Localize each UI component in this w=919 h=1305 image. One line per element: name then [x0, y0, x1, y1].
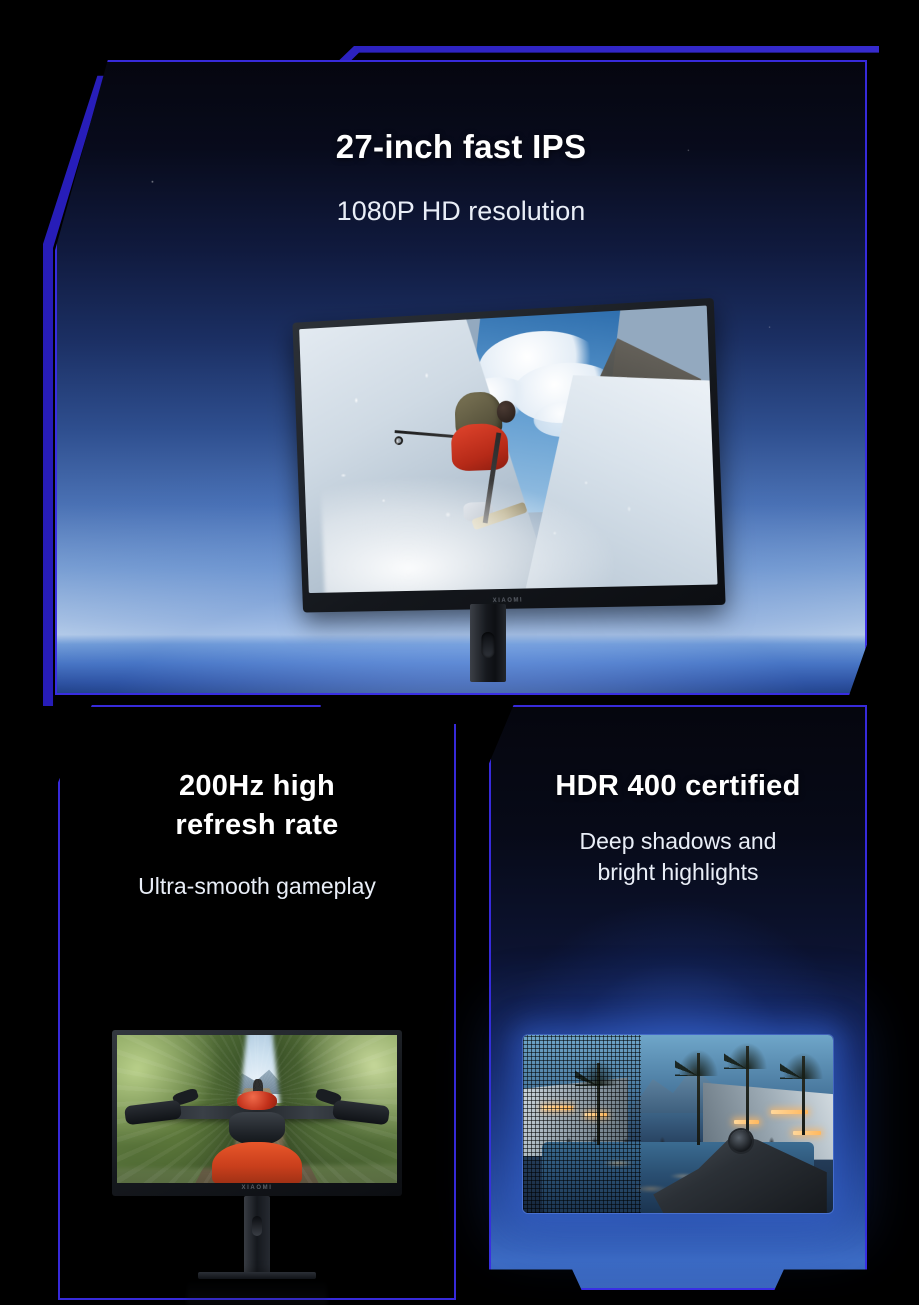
hdr-heading-block: HDR 400 certified Deep shadows and brigh… [489, 767, 867, 887]
monitor-stand-column [244, 1196, 270, 1274]
refresh-heading-block: 200Hz high refresh rate Ultra-smooth gam… [58, 767, 456, 902]
product-feature-page: 27-inch fast IPS 1080P HD resolution [0, 0, 919, 1300]
hdr-game-screenshot [523, 1035, 833, 1213]
monitor-screen [299, 305, 717, 593]
monitor-stand-column [470, 604, 506, 682]
page-title: 27-inch fast IPS [55, 128, 867, 166]
panel-display-spec: 27-inch fast IPS 1080P HD resolution [55, 60, 867, 695]
motorcycle-game-image [117, 1035, 397, 1183]
panel-hdr: HDR 400 certified Deep shadows and brigh… [489, 705, 867, 1290]
monitor-hero: XIAOMI [287, 308, 717, 678]
panel-title-line1: 200Hz high [58, 767, 456, 806]
monitor-brand-logo: XIAOMI [242, 1185, 273, 1191]
monitor-screen-wrapper: XIAOMI [292, 298, 725, 613]
fps-game-scene [523, 1035, 833, 1213]
cable-management-hole [482, 632, 495, 658]
surface-reflection [187, 1279, 327, 1305]
top-panel-heading-block: 27-inch fast IPS 1080P HD resolution [55, 128, 867, 227]
panel-subtitle-line1: Deep shadows and [489, 826, 867, 857]
monitor-stand-base [198, 1272, 316, 1279]
monitor-screen [117, 1035, 397, 1183]
panel-refresh-rate: 200Hz high refresh rate Ultra-smooth gam… [58, 705, 456, 1300]
panel-subtitle: Ultra-smooth gameplay [58, 871, 456, 902]
page-subtitle: 1080P HD resolution [55, 196, 867, 227]
cable-management-hole [252, 1216, 262, 1236]
monitor-bezel: XIAOMI [292, 298, 725, 613]
panel-subtitle-line2: bright highlights [489, 857, 867, 888]
panel-title-line2: refresh rate [58, 806, 456, 845]
monitor-gaming: XIAOMI [112, 1030, 402, 1290]
ski-scene-image [299, 305, 717, 593]
monitor-bezel: XIAOMI [112, 1030, 402, 1196]
panel-title: HDR 400 certified [489, 767, 867, 806]
